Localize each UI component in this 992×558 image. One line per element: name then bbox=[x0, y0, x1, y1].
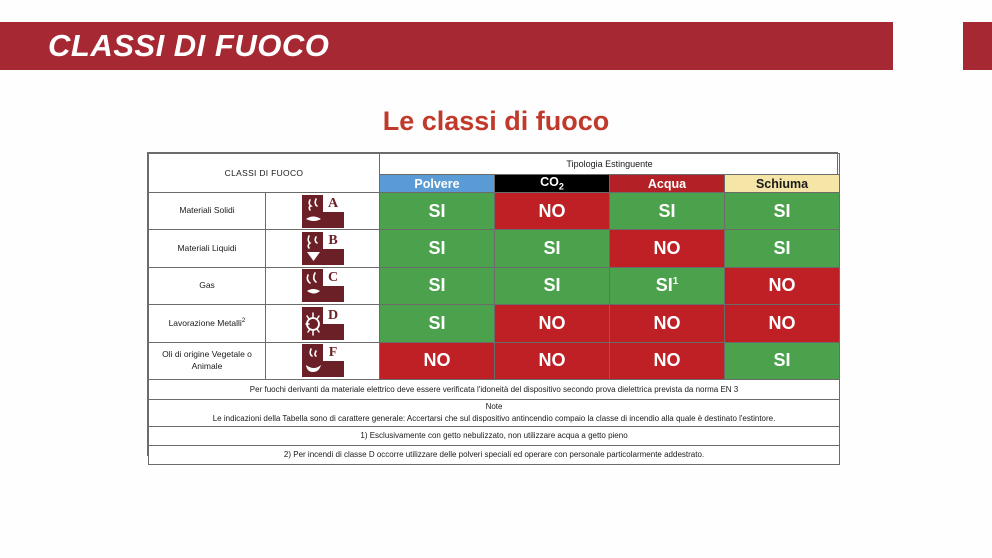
icon-cell: D bbox=[266, 305, 380, 342]
note-row-footnote-1: 1) Esclusivamente con getto nebulizzato,… bbox=[149, 426, 840, 445]
note-title: Note bbox=[149, 401, 839, 413]
table-row: Materiali LiquidiBSISINOSI bbox=[149, 230, 840, 267]
header-classi-di-fuoco: CLASSI DI FUOCO bbox=[149, 154, 380, 193]
icon-cell: B bbox=[266, 230, 380, 267]
cell-r4-c1: SI bbox=[380, 305, 495, 342]
icon-cell: F bbox=[266, 342, 380, 379]
cell-r4-c2: NO bbox=[495, 305, 610, 342]
cell-r5-c2: NO bbox=[495, 342, 610, 379]
cell-r5-c3: NO bbox=[610, 342, 725, 379]
cell-r4-c3: NO bbox=[610, 305, 725, 342]
cell-r3-c2: SI bbox=[495, 267, 610, 304]
cell-r1-c1: SI bbox=[380, 193, 495, 230]
fire-class-d-icon: D bbox=[302, 307, 344, 340]
note-general: Note Le indicazioni della Tabella sono d… bbox=[149, 399, 840, 426]
table-row: Materiali SolidiASINOSISI bbox=[149, 193, 840, 230]
icon-class-letter: C bbox=[323, 269, 344, 286]
footnote-2-text: 2) Per incendi di classe D occorre utili… bbox=[149, 445, 840, 464]
fire-class-b-icon: B bbox=[302, 232, 344, 265]
row-label-5: Oli di origine Vegetale o Animale bbox=[149, 342, 266, 379]
icon-class-letter: D bbox=[323, 307, 344, 324]
table-row: Lavorazione Metalli2DSINONONO bbox=[149, 305, 840, 342]
icon-class-letter: A bbox=[323, 195, 344, 212]
row-label-1: Materiali Solidi bbox=[149, 193, 266, 230]
note-row-footnote-2: 2) Per incendi di classe D occorre utili… bbox=[149, 445, 840, 464]
row-label-2: Materiali Liquidi bbox=[149, 230, 266, 267]
header-extinguisher-polvere: Polvere bbox=[380, 175, 495, 193]
fire-classes-table: CLASSI DI FUOCO Tipologia Estinguente Po… bbox=[148, 153, 840, 465]
row-label-3: Gas bbox=[149, 267, 266, 304]
header-extinguisher-schiuma: Schiuma bbox=[725, 175, 840, 193]
banner-accent-block bbox=[963, 22, 992, 70]
banner-title: CLASSI DI FUOCO bbox=[0, 28, 329, 64]
cell-r4-c4: NO bbox=[725, 305, 840, 342]
cell-r3-c3: SI1 bbox=[610, 267, 725, 304]
icon-cell: C bbox=[266, 267, 380, 304]
icon-cell: A bbox=[266, 193, 380, 230]
table-row: Oli di origine Vegetale o AnimaleFNONONO… bbox=[149, 342, 840, 379]
footnote-1-text: 1) Esclusivamente con getto nebulizzato,… bbox=[149, 426, 840, 445]
fire-classes-table-wrap: CLASSI DI FUOCO Tipologia Estinguente Po… bbox=[147, 152, 838, 456]
fire-class-a-icon: A bbox=[302, 195, 344, 228]
cell-superscript: 1 bbox=[673, 276, 679, 287]
icon-class-letter: F bbox=[323, 344, 344, 361]
header-co2-label: CO bbox=[540, 175, 559, 189]
cell-r2-c1: SI bbox=[380, 230, 495, 267]
row-label-4: Lavorazione Metalli2 bbox=[149, 305, 266, 342]
cell-r5-c4: SI bbox=[725, 342, 840, 379]
cell-r2-c4: SI bbox=[725, 230, 840, 267]
header-extinguisher-acqua: Acqua bbox=[610, 175, 725, 193]
page-title: Le classi di fuoco bbox=[0, 106, 992, 137]
icon-class-letter: B bbox=[323, 232, 344, 249]
header-tipologia-estinguente: Tipologia Estinguente bbox=[380, 154, 840, 175]
table-row: GasCSISISI1NO bbox=[149, 267, 840, 304]
header-extinguisher-co2: CO2 bbox=[495, 175, 610, 193]
cell-r3-c4: NO bbox=[725, 267, 840, 304]
fire-class-c-icon: C bbox=[302, 269, 344, 302]
note-text: Le indicazioni della Tabella sono di car… bbox=[149, 413, 839, 425]
cell-r2-c3: NO bbox=[610, 230, 725, 267]
cell-r1-c3: SI bbox=[610, 193, 725, 230]
header-co2-subscript: 2 bbox=[559, 182, 564, 192]
cell-r5-c1: NO bbox=[380, 342, 495, 379]
slide-banner: CLASSI DI FUOCO bbox=[0, 22, 893, 70]
note-row-general: Note Le indicazioni della Tabella sono d… bbox=[149, 399, 840, 426]
fire-class-f-icon: F bbox=[302, 344, 344, 377]
note-electrical-text: Per fuochi derivanti da materiale elettr… bbox=[149, 379, 840, 399]
cell-r1-c2: NO bbox=[495, 193, 610, 230]
slide-canvas: CLASSI DI FUOCO Le classi di fuoco CLASS… bbox=[0, 0, 992, 558]
cell-r3-c1: SI bbox=[380, 267, 495, 304]
cell-r2-c2: SI bbox=[495, 230, 610, 267]
cell-r1-c4: SI bbox=[725, 193, 840, 230]
note-row-electrical: Per fuochi derivanti da materiale elettr… bbox=[149, 379, 840, 399]
table-header-row-1: CLASSI DI FUOCO Tipologia Estinguente bbox=[149, 154, 840, 175]
row-label-superscript: 2 bbox=[242, 317, 246, 324]
